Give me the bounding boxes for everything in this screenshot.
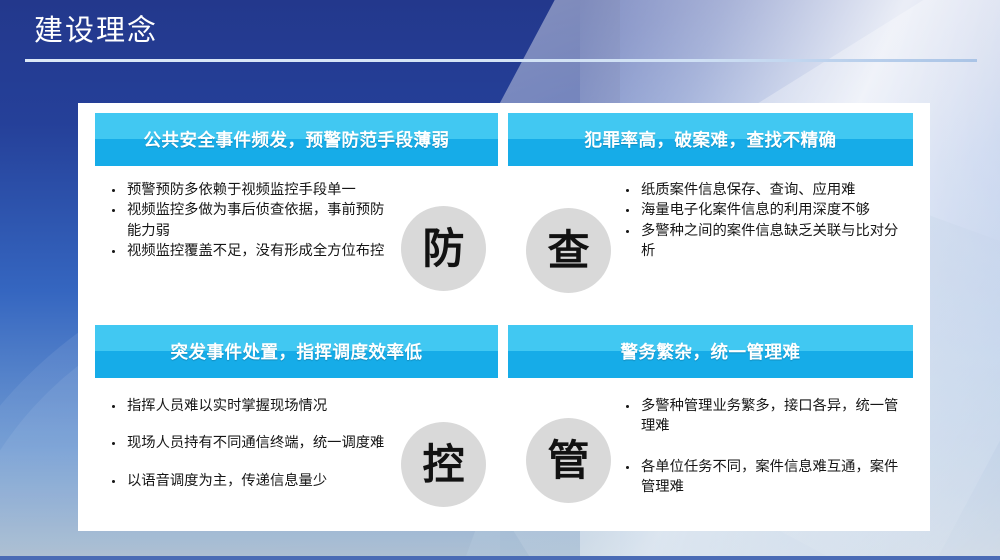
list-item: 视频监控覆盖不足，没有形成全方位布控 bbox=[107, 241, 389, 261]
title-divider-rule bbox=[25, 59, 977, 62]
card-fang-body: 预警预防多依赖于视频监控手段单一 视频监控多做为事后侦查依据，事前预防能力弱 视… bbox=[95, 166, 498, 318]
list-item: 以语音调度为主，传递信息量少 bbox=[107, 471, 389, 491]
card-fang-header-text: 公共安全事件频发，预警防范手段薄弱 bbox=[144, 127, 450, 152]
cards-grid: 公共安全事件频发，预警防范手段薄弱 预警预防多依赖于视频监控手段单一 视频监控多… bbox=[78, 103, 930, 531]
list-item: 预警预防多依赖于视频监控手段单一 bbox=[107, 180, 389, 200]
list-item: 海量电子化案件信息的利用深度不够 bbox=[621, 200, 905, 220]
bottom-accent-line bbox=[0, 556, 1000, 560]
list-item: 指挥人员难以实时掌握现场情况 bbox=[107, 396, 389, 416]
card-cha[interactable]: 犯罪率高，破案难，查找不精确 查 纸质案件信息保存、查询、应用难 海量电子化案件… bbox=[508, 113, 913, 318]
card-guan-body: 管 多警种管理业务繁多，接口各异，统一管理难 各单位任务不同，案件信息难互通，案… bbox=[508, 378, 913, 523]
list-item: 多警种之间的案件信息缺乏关联与比对分析 bbox=[621, 221, 905, 262]
list-item: 视频监控多做为事后侦查依据，事前预防能力弱 bbox=[107, 200, 389, 241]
page-title: 建设理念 bbox=[34, 14, 158, 49]
card-guan-icon-circle: 管 bbox=[526, 418, 611, 503]
card-kong-bullet-list: 指挥人员难以实时掌握现场情况 现场人员持有不同通信终端，统一调度难 以语音调度为… bbox=[95, 392, 395, 508]
card-cha-header-text: 犯罪率高，破案难，查找不精确 bbox=[585, 127, 837, 152]
card-guan-bullet-list: 多警种管理业务繁多，接口各异，统一管理难 各单位任务不同，案件信息难互通，案件管… bbox=[621, 392, 913, 517]
list-item: 多警种管理业务繁多，接口各异，统一管理难 bbox=[621, 396, 905, 437]
card-fang-header: 公共安全事件频发，预警防范手段薄弱 bbox=[95, 113, 498, 166]
card-guan-header-text: 警务繁杂，统一管理难 bbox=[621, 339, 801, 364]
list-item: 各单位任务不同，案件信息难互通，案件管理难 bbox=[621, 457, 905, 498]
card-kong-header: 突发事件处置，指挥调度效率低 bbox=[95, 325, 498, 378]
card-cha-bullet-list: 纸质案件信息保存、查询、应用难 海量电子化案件信息的利用深度不够 多警种之间的案… bbox=[621, 180, 913, 261]
card-fang-icon-circle: 防 bbox=[401, 206, 486, 291]
card-guan-header: 警务繁杂，统一管理难 bbox=[508, 325, 913, 378]
card-cha-icon-circle: 查 bbox=[526, 208, 611, 293]
list-item: 现场人员持有不同通信终端，统一调度难 bbox=[107, 433, 389, 453]
card-kong-body: 指挥人员难以实时掌握现场情况 现场人员持有不同通信终端，统一调度难 以语音调度为… bbox=[95, 378, 498, 523]
card-kong-icon-circle: 控 bbox=[401, 422, 486, 507]
card-fang-bullet-list: 预警预防多依赖于视频监控手段单一 视频监控多做为事后侦查依据，事前预防能力弱 视… bbox=[95, 180, 395, 261]
card-fang[interactable]: 公共安全事件频发，预警防范手段薄弱 预警预防多依赖于视频监控手段单一 视频监控多… bbox=[95, 113, 498, 318]
slide-root: 建设理念 公共安全事件频发，预警防范手段薄弱 预警预防多依赖于视频监控手段单一 … bbox=[0, 0, 1000, 560]
content-panel: 公共安全事件频发，预警防范手段薄弱 预警预防多依赖于视频监控手段单一 视频监控多… bbox=[78, 103, 930, 531]
page-title-wrapper: 建设理念 bbox=[34, 14, 158, 49]
card-cha-header: 犯罪率高，破案难，查找不精确 bbox=[508, 113, 913, 166]
list-item: 纸质案件信息保存、查询、应用难 bbox=[621, 180, 905, 200]
card-cha-body: 查 纸质案件信息保存、查询、应用难 海量电子化案件信息的利用深度不够 多警种之间… bbox=[508, 166, 913, 318]
card-kong-header-text: 突发事件处置，指挥调度效率低 bbox=[171, 339, 423, 364]
card-kong[interactable]: 突发事件处置，指挥调度效率低 指挥人员难以实时掌握现场情况 现场人员持有不同通信… bbox=[95, 325, 498, 523]
card-guan[interactable]: 警务繁杂，统一管理难 管 多警种管理业务繁多，接口各异，统一管理难 各单位任务不… bbox=[508, 325, 913, 523]
